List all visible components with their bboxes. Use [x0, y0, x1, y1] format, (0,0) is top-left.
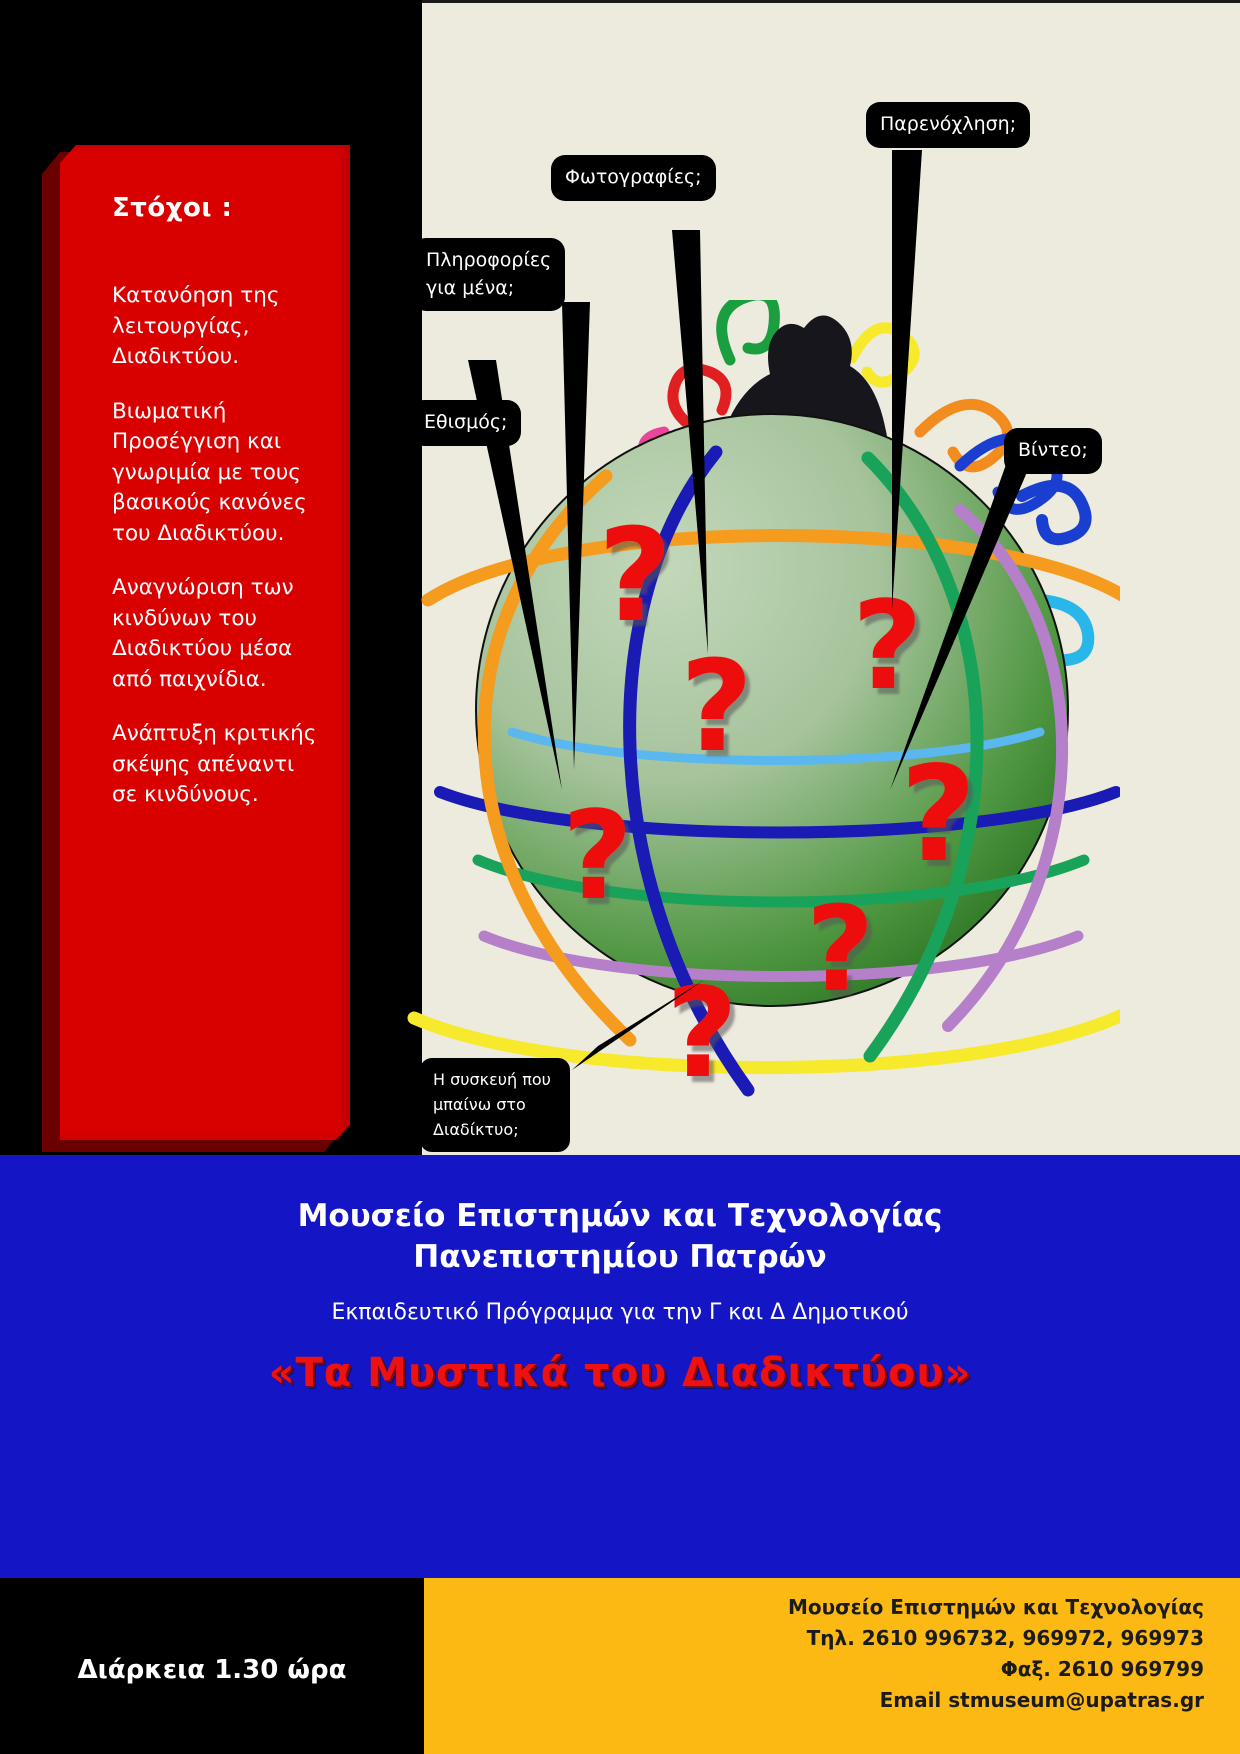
callout-video[interactable]: Βίντεο; — [1004, 428, 1102, 474]
pointer-information — [562, 302, 590, 770]
objective-item: Βιωματική Προσέγγιση και γνωριμία με του… — [112, 397, 322, 550]
objective-item: Αναγνώριση των κινδύνων του Διαδικτύου μ… — [112, 573, 322, 695]
callout-harassment[interactable]: Παρενόχληση; — [866, 102, 1030, 148]
callout-photos[interactable]: Φωτογραφίες; — [551, 155, 716, 201]
contact-block: Μουσείο Επιστημών και Τεχνολογίας Τηλ. 2… — [504, 1592, 1204, 1716]
objectives-card: Στόχοι : Κατανόηση της λειτουργίας, Διαδ… — [60, 145, 350, 1140]
duration-label: Διάρκεια 1.30 ώρα — [0, 1655, 424, 1685]
contact-line-phone: Τηλ. 2610 996732, 969972, 969973 — [504, 1623, 1204, 1654]
contact-line-museum: Μουσείο Επιστημών και Τεχνολογίας — [504, 1592, 1204, 1623]
contact-line-fax: Φαξ. 2610 969799 — [504, 1654, 1204, 1685]
pointer-harassment — [892, 150, 922, 610]
callout-device[interactable]: Η συσκευή που μπαίνω στο Διαδίκτυο; — [420, 1058, 570, 1152]
pointer-video — [890, 442, 1040, 790]
pointer-device — [572, 980, 704, 1070]
poster-root: ? ? ? ? ? ? ? Παρενόχληση; — [0, 0, 1240, 1754]
top-divider-line — [422, 0, 1240, 3]
objective-item: Ανάπτυξη κριτικής σκέψης απέναντι σε κιν… — [112, 719, 322, 811]
contact-line-email[interactable]: Email stmuseum@upatras.gr — [504, 1685, 1204, 1716]
museum-title-line2: Πανεπιστημίου Πατρών — [0, 1237, 1240, 1278]
program-headline: «Τα Μυστικά του Διαδικτύου» — [0, 1350, 1240, 1396]
program-subtitle: Εκπαιδευτικό Πρόγραμμα για την Γ και Δ Δ… — [0, 1300, 1240, 1325]
callout-addiction[interactable]: Εθισμός; — [410, 400, 521, 446]
objectives-title: Στόχοι : — [112, 193, 322, 223]
callout-information[interactable]: Πληροφορίες για μένα; — [412, 238, 565, 311]
pointer-photos — [672, 230, 708, 654]
objective-item: Κατανόηση της λειτουργίας, Διαδικτύου. — [112, 281, 322, 373]
